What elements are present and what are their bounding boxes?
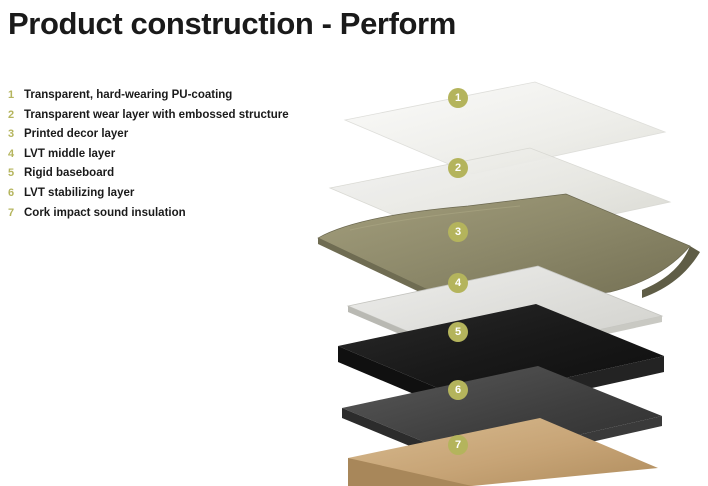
layer-stack-illustration — [290, 70, 708, 486]
legend-number: 4 — [6, 148, 24, 160]
legend-label: Rigid baseboard — [24, 167, 114, 179]
list-item: 2 Transparent wear layer with embossed s… — [6, 109, 336, 129]
badge-6: 6 — [448, 380, 468, 400]
badge-4: 4 — [448, 273, 468, 293]
legend-label: Transparent, hard-wearing PU-coating — [24, 89, 232, 101]
legend-label: LVT middle layer — [24, 148, 115, 160]
legend-number: 5 — [6, 167, 24, 179]
badge-5: 5 — [448, 322, 468, 342]
legend-number: 6 — [6, 187, 24, 199]
legend-label: Transparent wear layer with embossed str… — [24, 109, 289, 121]
list-item: 6 LVT stabilizing layer — [6, 187, 336, 207]
legend-label: Printed decor layer — [24, 128, 128, 140]
legend-list: 1 Transparent, hard-wearing PU-coating 2… — [6, 89, 336, 226]
legend-number: 7 — [6, 207, 24, 219]
legend-number: 2 — [6, 109, 24, 121]
legend-number: 3 — [6, 128, 24, 140]
legend-number: 1 — [6, 89, 24, 101]
badge-7: 7 — [448, 435, 468, 455]
list-item: 1 Transparent, hard-wearing PU-coating — [6, 89, 336, 109]
list-item: 3 Printed decor layer — [6, 128, 336, 148]
legend-label: Cork impact sound insulation — [24, 207, 186, 219]
list-item: 4 LVT middle layer — [6, 148, 336, 168]
list-item: 7 Cork impact sound insulation — [6, 207, 336, 227]
badge-3: 3 — [448, 222, 468, 242]
badge-2: 2 — [448, 158, 468, 178]
page-title: Product construction - Perform — [8, 6, 456, 42]
list-item: 5 Rigid baseboard — [6, 167, 336, 187]
badge-1: 1 — [448, 88, 468, 108]
product-construction-diagram: 1 2 3 4 5 6 7 — [290, 70, 708, 486]
legend-label: LVT stabilizing layer — [24, 187, 134, 199]
